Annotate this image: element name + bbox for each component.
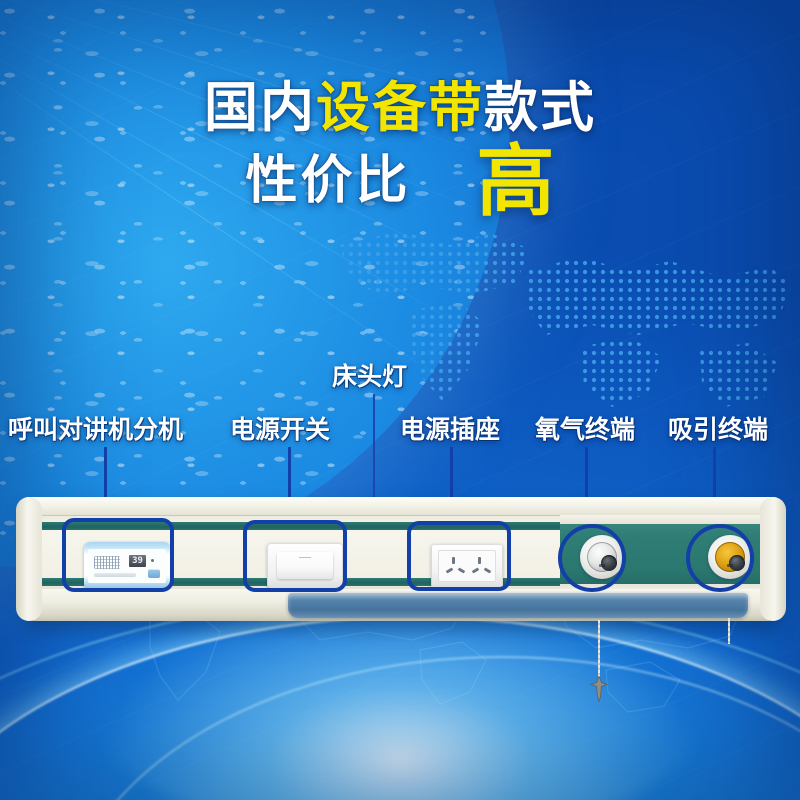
panel-end-cap-left bbox=[16, 497, 42, 621]
highlight-box-intercom bbox=[62, 518, 174, 592]
highlight-box-switch bbox=[243, 520, 347, 592]
headline-part-highlight: 设备带 bbox=[316, 76, 484, 139]
headline-part-plain-1: 国内 bbox=[204, 76, 316, 139]
bed-lamp-lens[interactable] bbox=[288, 593, 748, 618]
banner-stage: 国内设备带款式 性价比高 呼叫对讲机分机电源开关床头灯电源插座氧气终端吸引终端 … bbox=[0, 0, 800, 800]
highlight-circle-oxygen bbox=[558, 524, 626, 592]
pull-cord-handle-icon[interactable] bbox=[588, 676, 610, 702]
panel-end-cap-right bbox=[760, 497, 786, 621]
subline-accent-text: 高 bbox=[477, 153, 555, 211]
headline-line-1: 国内设备带款式 bbox=[0, 78, 800, 138]
highlight-box-socket bbox=[407, 521, 511, 591]
headline-part-plain-2: 款式 bbox=[484, 76, 596, 139]
headline-block: 国内设备带款式 性价比高 bbox=[0, 78, 800, 211]
highlight-circle-suction bbox=[686, 524, 754, 592]
subline-text: 性价比 bbox=[245, 151, 410, 211]
pull-cord-line-secondary[interactable] bbox=[728, 618, 730, 644]
headline-line-2: 性价比高 bbox=[0, 152, 800, 211]
